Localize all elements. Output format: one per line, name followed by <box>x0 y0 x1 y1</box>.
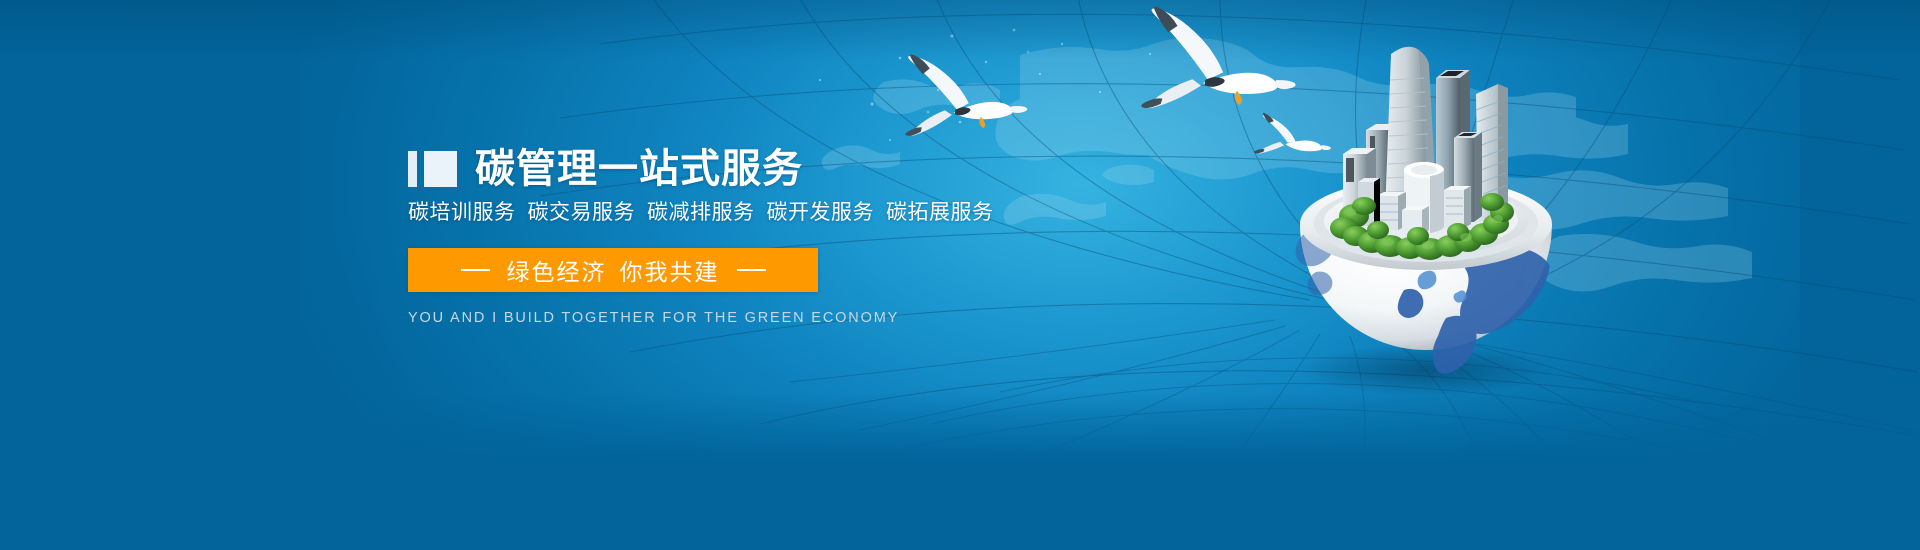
service-item: 碳减排服务 <box>647 201 755 224</box>
slogan-left: 绿色经济 <box>507 259 607 285</box>
background-bottom-band <box>0 462 1920 550</box>
right-rule-icon <box>737 269 766 271</box>
slogan-bar: 绿色经济你我共建 <box>408 248 818 292</box>
service-list: 碳培训服务碳交易服务碳减排服务碳开发服务碳拓展服务 <box>408 199 1048 227</box>
vertical-bar-icon <box>408 151 417 187</box>
page-title: 碳管理一站式服务 <box>475 147 803 191</box>
title-row: 碳管理一站式服务 <box>408 146 1048 192</box>
globe-city-artwork <box>1258 20 1588 400</box>
tagline-english: YOU AND I BUILD TOGETHER FOR THE GREEN E… <box>408 310 818 326</box>
title-mark <box>408 151 457 187</box>
banner-copy: 碳管理一站式服务 碳培训服务碳交易服务碳减排服务碳开发服务碳拓展服务 绿色经济你… <box>408 146 1048 326</box>
slogan-right: 你我共建 <box>620 259 720 285</box>
service-item: 碳培训服务 <box>408 201 516 224</box>
square-icon <box>424 151 457 187</box>
background-top-shade <box>0 0 1920 60</box>
left-rule-icon <box>461 269 490 271</box>
service-item: 碳拓展服务 <box>886 201 994 224</box>
background-bottom-fade <box>0 392 1920 462</box>
slogan-text: 绿色经济你我共建 <box>507 253 720 287</box>
service-item: 碳开发服务 <box>767 201 875 224</box>
service-item: 碳交易服务 <box>528 201 636 224</box>
hero-banner: 碳管理一站式服务 碳培训服务碳交易服务碳减排服务碳开发服务碳拓展服务 绿色经济你… <box>0 0 1920 550</box>
